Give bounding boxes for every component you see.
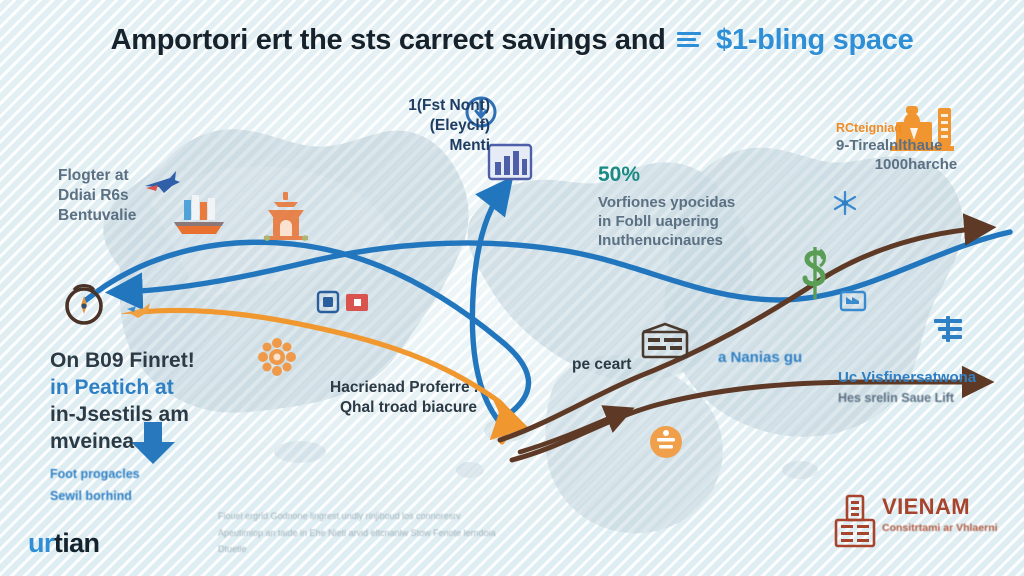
pagoda-temple-icon [256, 188, 316, 244]
note-connect-line2: Hes srelin Saue Lift [838, 390, 1013, 406]
note-connect: Uc Visfinersatwona Hes srelin Saue Lift [838, 368, 1013, 406]
note-capacity-line2: in Fobll uapering [598, 212, 768, 231]
note-port-line1: Flogter at [58, 166, 208, 186]
factory-small-icon [838, 284, 868, 314]
note-investment: On B09 Finret! in Peatich at in-Jsestils… [50, 348, 235, 504]
note-rail-line1: a Nanias gu [718, 348, 848, 367]
vietnam-subtitle: Consitrtami ar Vhlaerni [882, 522, 998, 534]
title-part-3: $1-bling space [716, 24, 913, 56]
note-capacity-line1: Vorfiones ypocidas [598, 193, 768, 212]
note-investment-sub1: Foot progacles [50, 466, 235, 482]
note-corridor: Hacrienad Proferre . Qhal troad biacure [330, 378, 540, 418]
note-rail: a Nanias gu [718, 348, 848, 367]
note-investment-line2: in Peatich at [50, 375, 235, 402]
title-part-2: sts carrect savings and [350, 24, 666, 56]
note-logistics: 1(Fst Nont) (Eleyclf) Menti [372, 96, 490, 155]
footnote-line-2: Apeutimiop an taide in Ehe Nieti arvid e… [218, 525, 578, 542]
note-investment-line1: On B09 Finret! [50, 348, 235, 375]
note-corridor-line2: Qhal troad biacure [330, 398, 540, 418]
footnote-line-3: Dtuetie [218, 541, 578, 558]
page-title: Amportori ert the sts carrect savings an… [0, 24, 1024, 57]
note-capacity: 50% Vorfiones ypocidas in Fobll uapering… [598, 162, 768, 250]
note-factory: RCteigniaq 9-Tirealnlthaue 1000harche [836, 120, 996, 174]
note-port-line2: Ddiai R6s [58, 186, 208, 206]
note-factory-line3: 1000harche [836, 155, 996, 174]
footnote-line-1: Fiouel ergrid Godnone lingrest undly rin… [218, 508, 578, 525]
brand-part-2: tian [54, 528, 100, 558]
brand-logo: urtian [28, 528, 99, 559]
note-logistics-line1: 1(Fst Nont) [372, 96, 490, 116]
brand-part-1: ur [28, 528, 54, 558]
snowflake-icon [830, 190, 860, 216]
bar-lines-icon [932, 316, 964, 342]
vietnam-logo: VIENAM Consitrtami ar Vhlaerni [830, 492, 1016, 552]
compass-target-icon [60, 280, 108, 328]
note-investment-sub2: Sewil borhind [50, 488, 235, 504]
vietnam-title: VIENAM [882, 494, 998, 520]
note-connect-line1: Uc Visfinersatwona [838, 368, 1013, 387]
note-corridor-line1: Hacrienad Proferre . [330, 378, 540, 398]
note-investment-line4: mveinea [50, 429, 235, 456]
note-port2: pe ceart [572, 355, 682, 375]
note-port-line3: Bentuvalie [58, 206, 208, 226]
infographic-canvas: Amportori ert the sts carrect savings an… [0, 0, 1024, 576]
gear-flower-icon [258, 338, 296, 376]
note-factory-line2: 9-Tirealnlthaue [836, 136, 996, 155]
dollar-caduceus-icon [796, 244, 834, 302]
note-logistics-line2: (Eleyclf) [372, 116, 490, 136]
note-capacity-line3: Inuthenucinaures [598, 231, 768, 250]
note-port2-line1: pe ceart [572, 355, 682, 375]
flag-stripes-icon [677, 31, 701, 48]
office-building-icon [486, 140, 536, 188]
note-logistics-line3: Menti [372, 136, 490, 156]
note-capacity-value: 50% [598, 162, 768, 189]
vietnam-tower-icon [830, 492, 880, 550]
title-part-1: Amportori ert the [111, 24, 343, 56]
footnote: Fiouel ergrid Godnone lingrest undly rin… [218, 508, 578, 558]
circle-badge-icon [648, 424, 684, 460]
note-factory-line1: RCteigniaq [836, 120, 996, 136]
airplane-small-icon [118, 300, 152, 322]
microchip-icon [316, 288, 374, 318]
note-investment-line3: in-Jsestils am [50, 402, 235, 429]
note-port: Flogter at Ddiai R6s Bentuvalie [58, 166, 208, 225]
